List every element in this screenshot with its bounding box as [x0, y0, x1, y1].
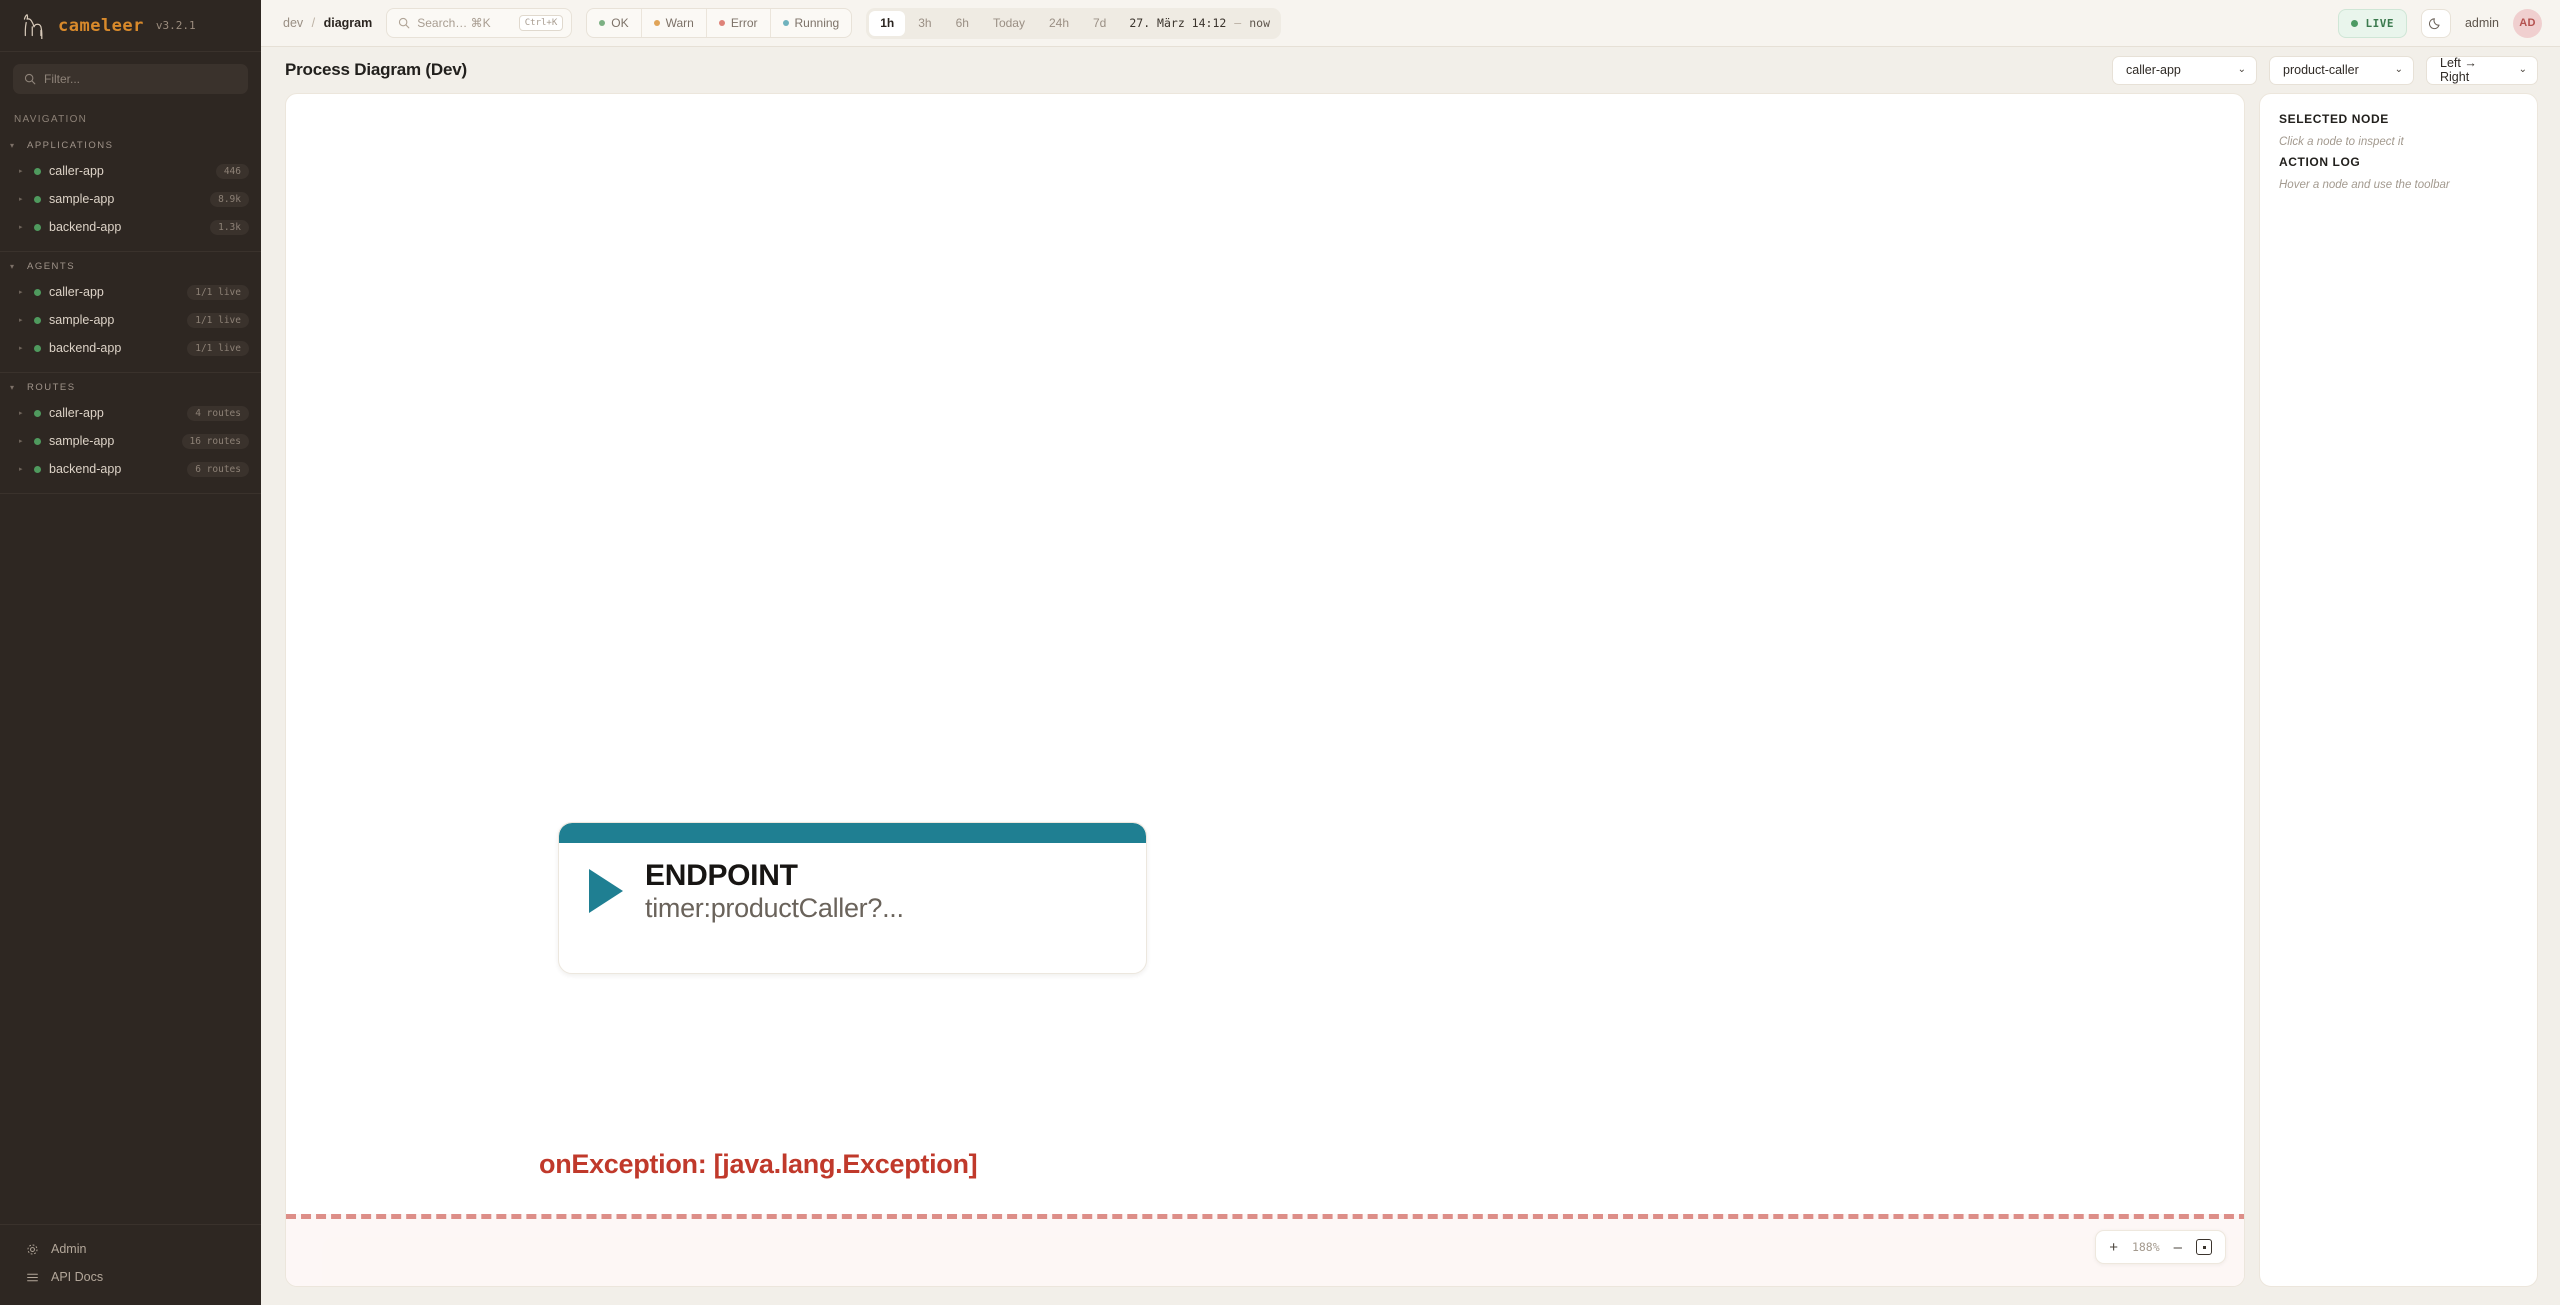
time-range-today[interactable]: Today	[982, 11, 1036, 36]
node-accent-bar	[559, 823, 1146, 843]
time-range-6h[interactable]: 6h	[945, 11, 980, 36]
status-filter-label: Error	[731, 16, 758, 30]
diagram-canvas[interactable]: ENDPOINT timer:productCaller?... onExcep…	[285, 93, 2245, 1287]
topbar: dev / diagram Search… ⌘K Ctrl+K OK	[261, 0, 2560, 47]
zoom-level: 188%	[2132, 1240, 2160, 1254]
sidebar-footer: Admin API Docs	[0, 1224, 261, 1305]
live-label: LIVE	[2365, 17, 2394, 30]
logo-version: v3.2.1	[156, 19, 196, 32]
status-dot	[34, 438, 41, 445]
exception-region	[286, 1214, 2245, 1287]
time-range-group: 1h 3h 6h Today 24h 7d 27. März 14:12 — n…	[866, 8, 1281, 39]
breadcrumb-root[interactable]: dev	[283, 16, 303, 30]
search-icon	[398, 17, 410, 29]
status-filter-group: OK Warn Error Running	[586, 8, 852, 38]
node-body: ENDPOINT timer:productCaller?...	[559, 843, 1146, 924]
chevron-right-icon: ▸	[19, 288, 26, 296]
application-select-value: caller-app	[2126, 63, 2181, 77]
sidebar-item-label: caller-app	[49, 406, 179, 420]
sidebar-item-label: backend-app	[49, 341, 179, 355]
sidebar-item-applications-sample-app[interactable]: ▸ sample-app 8.9k	[0, 185, 261, 213]
chevron-right-icon: ▸	[19, 167, 26, 175]
sidebar-item-badge: 8.9k	[210, 192, 249, 207]
filter-placeholder: Filter...	[44, 72, 80, 86]
status-filter-error[interactable]: Error	[707, 9, 771, 37]
status-dot	[34, 410, 41, 417]
chevron-right-icon: ▸	[19, 195, 26, 203]
chevron-down-icon: ⌄	[2519, 65, 2527, 75]
filter-wrapper: Filter...	[0, 52, 261, 104]
group-title: APPLICATIONS	[27, 140, 113, 151]
inspector-panel: SELECTED NODE Click a node to inspect it…	[2259, 93, 2538, 1287]
app-root: cameleer v3.2.1 Filter... NAVIGATION ▾ A…	[0, 0, 2560, 1305]
search-icon	[24, 73, 36, 85]
route-select-value: product-caller	[2283, 63, 2359, 77]
route-select[interactable]: product-caller ⌄	[2269, 56, 2414, 85]
chevron-right-icon: ▸	[19, 437, 26, 445]
status-dot	[34, 345, 41, 352]
list-icon	[26, 1271, 39, 1284]
sidebar-item-badge: 1/1 live	[187, 285, 249, 300]
gear-icon	[26, 1243, 39, 1256]
sidebar: cameleer v3.2.1 Filter... NAVIGATION ▾ A…	[0, 0, 261, 1305]
time-range-from[interactable]: 27. März 14:12	[1119, 16, 1232, 30]
sidebar-item-admin[interactable]: Admin	[0, 1235, 261, 1263]
sidebar-item-agents-sample-app[interactable]: ▸ sample-app 1/1 live	[0, 306, 261, 334]
sidebar-item-badge: 446	[216, 164, 249, 179]
sidebar-item-label: sample-app	[49, 434, 174, 448]
play-icon	[589, 869, 623, 913]
chevron-down-icon: ⌄	[2238, 65, 2246, 75]
chevron-down-icon: ▾	[10, 263, 18, 271]
status-dot	[34, 466, 41, 473]
zoom-in-button[interactable]: +	[2109, 1240, 2118, 1255]
direction-select-value: Left → Right	[2440, 56, 2509, 84]
group-header-applications[interactable]: ▾ APPLICATIONS	[0, 131, 261, 157]
breadcrumb: dev / diagram	[283, 16, 372, 30]
chevron-right-icon: ▸	[19, 344, 26, 352]
status-dot	[34, 224, 41, 231]
search-input[interactable]: Search… ⌘K Ctrl+K	[386, 8, 572, 38]
main-area: dev / diagram Search… ⌘K Ctrl+K OK	[261, 0, 2560, 1305]
camel-icon	[20, 13, 48, 39]
time-range-24h[interactable]: 24h	[1038, 11, 1080, 36]
status-dot	[783, 20, 789, 26]
sidebar-item-label: Admin	[51, 1242, 86, 1256]
exception-region-panel	[322, 1237, 2245, 1287]
sidebar-group-routes: ▾ ROUTES ▸ caller-app 4 routes ▸ sample-…	[0, 373, 261, 494]
zoom-out-button[interactable]: –	[2174, 1240, 2182, 1255]
sidebar-item-routes-sample-app[interactable]: ▸ sample-app 16 routes	[0, 427, 261, 455]
application-select[interactable]: caller-app ⌄	[2112, 56, 2257, 85]
time-range-7d[interactable]: 7d	[1082, 11, 1117, 36]
status-filter-label: Warn	[666, 16, 694, 30]
sidebar-item-label: backend-app	[49, 220, 202, 234]
sidebar-spacer	[0, 494, 261, 1224]
action-log-title: ACTION LOG	[2279, 155, 2519, 169]
sidebar-item-applications-caller-app[interactable]: ▸ caller-app 446	[0, 157, 261, 185]
sidebar-item-badge: 1.3k	[210, 220, 249, 235]
sidebar-group-agents: ▾ AGENTS ▸ caller-app 1/1 live ▸ sample-…	[0, 252, 261, 373]
status-filter-label: Running	[795, 16, 840, 30]
fit-to-screen-icon[interactable]	[2196, 1239, 2212, 1255]
user-name: admin	[2465, 16, 2499, 30]
status-dot	[34, 196, 41, 203]
chevron-right-icon: ▸	[19, 409, 26, 417]
selected-node-title: SELECTED NODE	[2279, 112, 2519, 126]
group-header-routes[interactable]: ▾ ROUTES	[0, 373, 261, 399]
content-area: ENDPOINT timer:productCaller?... onExcep…	[261, 93, 2560, 1305]
page-title: Process Diagram (Dev)	[285, 60, 467, 80]
sidebar-item-applications-backend-app[interactable]: ▸ backend-app 1.3k	[0, 213, 261, 241]
chevron-right-icon: ▸	[19, 465, 26, 473]
status-dot	[34, 317, 41, 324]
sidebar-item-badge: 1/1 live	[187, 341, 249, 356]
group-title: ROUTES	[27, 382, 76, 393]
search-placeholder: Search… ⌘K	[417, 16, 511, 30]
node-texts: ENDPOINT timer:productCaller?...	[645, 859, 904, 924]
sidebar-item-agents-caller-app[interactable]: ▸ caller-app 1/1 live	[0, 278, 261, 306]
navigation-label: NAVIGATION	[0, 104, 261, 131]
status-dot	[719, 20, 725, 26]
sidebar-item-label: backend-app	[49, 462, 179, 476]
sidebar-item-label: caller-app	[49, 285, 179, 299]
search-shortcut-badge: Ctrl+K	[519, 15, 564, 31]
group-header-agents[interactable]: ▾ AGENTS	[0, 252, 261, 278]
sidebar-item-badge: 16 routes	[182, 434, 249, 449]
status-dot	[654, 20, 660, 26]
breadcrumb-current: diagram	[324, 16, 373, 30]
chevron-right-icon: ▸	[19, 316, 26, 324]
status-dot	[599, 20, 605, 26]
page-header: Process Diagram (Dev) caller-app ⌄ produ…	[261, 47, 2560, 93]
sidebar-item-routes-backend-app[interactable]: ▸ backend-app 6 routes	[0, 455, 261, 483]
status-filter-ok[interactable]: OK	[587, 9, 641, 37]
status-filter-warn[interactable]: Warn	[642, 9, 707, 37]
status-dot	[34, 168, 41, 175]
exception-label: onException: [java.lang.Exception]	[539, 1149, 977, 1180]
sidebar-group-applications: ▾ APPLICATIONS ▸ caller-app 446 ▸ sample…	[0, 131, 261, 252]
time-range-3h[interactable]: 3h	[907, 11, 942, 36]
sidebar-item-label: caller-app	[49, 164, 208, 178]
theme-toggle-button[interactable]	[2421, 9, 2451, 38]
diagram-node-endpoint[interactable]: ENDPOINT timer:productCaller?...	[558, 822, 1147, 974]
group-title: AGENTS	[27, 261, 75, 272]
sidebar-item-label: sample-app	[49, 192, 202, 206]
sidebar-item-api-docs[interactable]: API Docs	[0, 1263, 261, 1291]
moon-icon	[2429, 16, 2443, 30]
sidebar-item-badge: 6 routes	[187, 462, 249, 477]
breadcrumb-separator: /	[312, 16, 315, 30]
sidebar-item-routes-caller-app[interactable]: ▸ caller-app 4 routes	[0, 399, 261, 427]
status-filter-running[interactable]: Running	[771, 9, 852, 37]
chevron-down-icon: ▾	[10, 384, 18, 392]
zoom-controls: + 188% –	[2095, 1230, 2226, 1264]
node-uri-label: timer:productCaller?...	[645, 893, 904, 924]
chevron-down-icon: ▾	[10, 142, 18, 150]
avatar[interactable]: AD	[2513, 9, 2542, 38]
sidebar-item-badge: 1/1 live	[187, 313, 249, 328]
chevron-down-icon: ⌄	[2395, 65, 2403, 75]
sidebar-item-label: API Docs	[51, 1270, 103, 1284]
live-badge[interactable]: LIVE	[2338, 9, 2407, 38]
logo[interactable]: cameleer v3.2.1	[0, 0, 261, 52]
time-range-dash: —	[1234, 16, 1241, 30]
status-filter-label: OK	[611, 16, 628, 30]
action-log-hint: Hover a node and use the toolbar	[2279, 179, 2519, 191]
node-kind-label: ENDPOINT	[645, 859, 904, 893]
sidebar-item-label: sample-app	[49, 313, 179, 327]
logo-name: cameleer	[58, 16, 144, 36]
sidebar-item-badge: 4 routes	[187, 406, 249, 421]
live-dot	[2351, 20, 2358, 27]
chevron-right-icon: ▸	[19, 223, 26, 231]
filter-input[interactable]: Filter...	[13, 64, 248, 94]
sidebar-item-agents-backend-app[interactable]: ▸ backend-app 1/1 live	[0, 334, 261, 362]
selected-node-hint: Click a node to inspect it	[2279, 136, 2519, 148]
time-range-1h[interactable]: 1h	[869, 11, 905, 36]
direction-select[interactable]: Left → Right ⌄	[2426, 56, 2538, 85]
status-dot	[34, 289, 41, 296]
time-range-to[interactable]: now	[1243, 16, 1278, 30]
